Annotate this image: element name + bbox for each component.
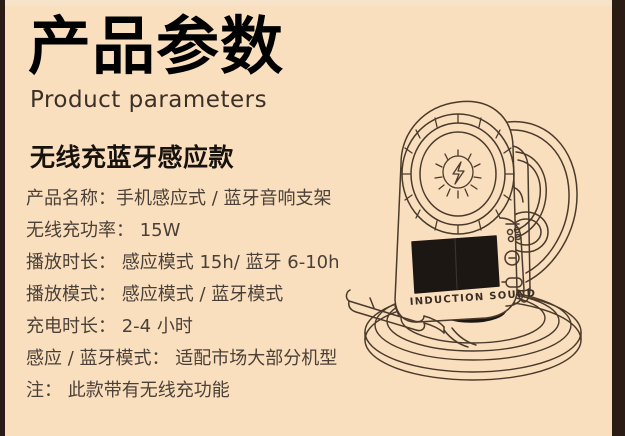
top-sheen-strip [5, 0, 612, 6]
product-illustration: INDUCTION SOUND [340, 92, 615, 392]
spec-row: 播放时长： 感应模式 15h/ 蓝牙 6-10h [26, 247, 376, 279]
page-subtitle-english: Product parameters [30, 86, 267, 114]
spec-row: 无线充功率： 15W [26, 215, 376, 247]
product-parameters-banner: 产品参数 Product parameters 无线充蓝牙感应款 产品名称：手机… [0, 0, 625, 436]
device-screen [412, 236, 499, 293]
left-border-strip [0, 0, 5, 436]
spec-row: 充电时长： 2-4 小时 [26, 311, 376, 343]
model-heading: 无线充蓝牙感应款 [30, 143, 234, 173]
support-arm [444, 328, 476, 347]
spec-row: 播放模式： 感应模式 / 蓝牙模式 [26, 279, 376, 311]
spec-row: 感应 / 蓝牙模式： 适配市场大部分机型 [26, 343, 376, 375]
spec-row: 产品名称：手机感应式 / 蓝牙音响支架 [26, 183, 376, 215]
specification-list: 产品名称：手机感应式 / 蓝牙音响支架 无线充功率： 15W 播放时长： 感应模… [26, 183, 376, 407]
spec-row: 注： 此款带有无线充功能 [26, 375, 376, 407]
page-title: 产品参数 [28, 12, 284, 82]
